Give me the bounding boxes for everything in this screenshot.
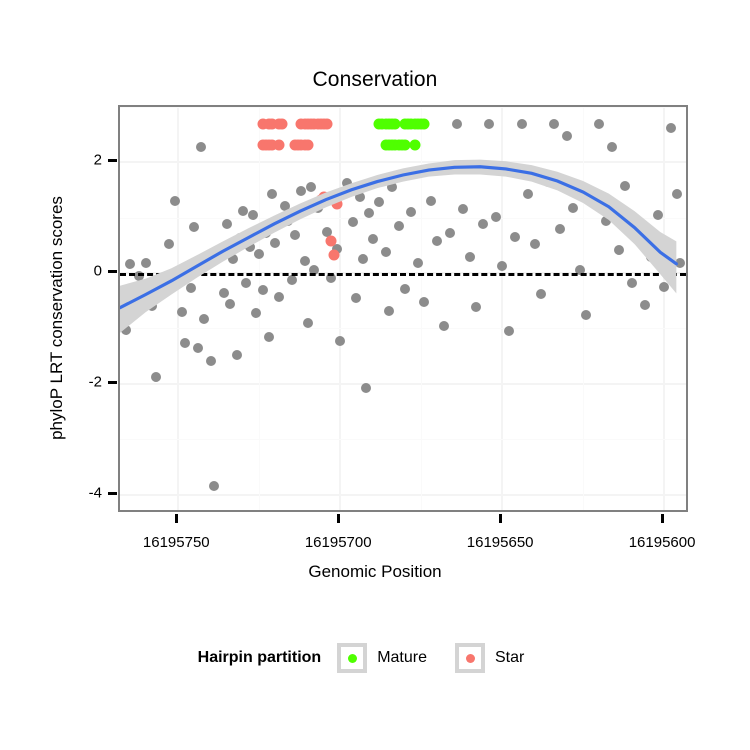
plot-panel (118, 105, 688, 512)
data-point-unassigned (177, 307, 187, 317)
data-point-unassigned (348, 217, 358, 227)
data-point-unassigned (180, 338, 190, 348)
data-point-unassigned (296, 186, 306, 196)
data-point-unassigned (458, 204, 468, 214)
data-point-unassigned (267, 189, 277, 199)
gridline-minor-horizontal (120, 328, 686, 329)
y-tick-mark (108, 159, 117, 162)
data-point-unassigned (484, 119, 494, 129)
data-point-unassigned (426, 196, 436, 206)
legend-label: Star (495, 649, 524, 667)
gridline-minor-horizontal (120, 439, 686, 440)
data-point-unassigned (601, 216, 611, 226)
data-point-unassigned (141, 258, 151, 268)
data-point-unassigned (675, 258, 685, 268)
gridline-minor-vertical (583, 107, 584, 510)
data-point-star (322, 118, 333, 129)
gridline-vertical (339, 107, 341, 510)
data-point-unassigned (536, 289, 546, 299)
data-point-unassigned (530, 239, 540, 249)
gridline-vertical (663, 107, 665, 510)
data-point-unassigned (300, 256, 310, 266)
data-point-unassigned (196, 142, 206, 152)
y-tick-mark (108, 492, 117, 495)
legend-key-star (455, 643, 485, 673)
data-point-unassigned (147, 301, 157, 311)
data-point-unassigned (232, 350, 242, 360)
x-tick-mark (175, 514, 178, 523)
data-point-unassigned (497, 261, 507, 271)
loess-smooth-line (120, 167, 676, 308)
legend-items: MatureStar (337, 643, 552, 673)
data-point-unassigned (193, 343, 203, 353)
data-point-unassigned (280, 201, 290, 211)
data-point-unassigned (445, 228, 455, 238)
conservation-scatter-figure: Conservation 161957501619570016195650161… (0, 0, 750, 750)
data-point-unassigned (215, 244, 225, 254)
legend-item-mature[interactable]: Mature (337, 643, 449, 673)
data-point-unassigned (400, 284, 410, 294)
data-point-unassigned (199, 314, 209, 324)
y-tick-mark (108, 381, 117, 384)
data-point-unassigned (517, 119, 527, 129)
y-tick-label: 2 (72, 152, 102, 169)
data-point-unassigned (235, 233, 245, 243)
data-point-star (319, 191, 330, 202)
legend-dot-icon (466, 654, 475, 663)
data-point-star (302, 139, 313, 150)
legend-title: Hairpin partition (198, 649, 322, 667)
data-point-unassigned (646, 252, 656, 262)
confidence-band (120, 160, 676, 333)
data-point-unassigned (202, 252, 212, 262)
data-point-unassigned (419, 297, 429, 307)
data-point-unassigned (264, 332, 274, 342)
data-point-unassigned (219, 288, 229, 298)
y-tick-label: 0 (72, 263, 102, 280)
data-point-star (325, 236, 336, 247)
data-point-unassigned (170, 196, 180, 206)
data-point-unassigned (228, 254, 238, 264)
data-point-unassigned (238, 206, 248, 216)
gridline-minor-horizontal (120, 107, 686, 108)
gridline-horizontal (120, 161, 686, 163)
data-point-unassigned (254, 249, 264, 259)
data-point-unassigned (594, 119, 604, 129)
data-point-unassigned (189, 222, 199, 232)
data-point-unassigned (432, 236, 442, 246)
x-tick-mark (661, 514, 664, 523)
legend-key-mature (337, 643, 367, 673)
data-point-unassigned (261, 228, 271, 238)
gridline-vertical (501, 107, 503, 510)
x-tick-mark (499, 514, 502, 523)
data-point-unassigned (121, 325, 131, 335)
data-point-unassigned (413, 258, 423, 268)
data-point-unassigned (225, 299, 235, 309)
data-point-unassigned (245, 242, 255, 252)
data-point-unassigned (222, 219, 232, 229)
data-point-unassigned (274, 292, 284, 302)
data-point-unassigned (439, 321, 449, 331)
legend-dot-icon (348, 654, 357, 663)
data-point-unassigned (251, 308, 261, 318)
data-point-unassigned (351, 293, 361, 303)
data-point-unassigned (568, 203, 578, 213)
data-point-unassigned (290, 230, 300, 240)
data-point-star (331, 198, 342, 209)
x-tick-mark (337, 514, 340, 523)
data-point-unassigned (394, 221, 404, 231)
legend: Hairpin partition MatureStar (0, 643, 750, 673)
data-point-unassigned (186, 283, 196, 293)
data-point-unassigned (543, 177, 553, 187)
data-point-unassigned (160, 279, 170, 289)
data-point-mature (419, 118, 430, 129)
data-point-unassigned (653, 210, 663, 220)
data-point-unassigned (607, 142, 617, 152)
data-point-unassigned (258, 285, 268, 295)
x-tick-label: 16195700 (305, 534, 372, 551)
x-tick-label: 16195750 (143, 534, 210, 551)
data-point-unassigned (672, 189, 682, 199)
data-point-unassigned (549, 119, 559, 129)
y-tick-label: -2 (72, 373, 102, 390)
data-point-star (328, 250, 339, 261)
data-point-unassigned (620, 181, 630, 191)
data-point-unassigned (666, 123, 676, 133)
data-point-unassigned (303, 318, 313, 328)
gridline-horizontal (120, 494, 686, 496)
data-point-unassigned (335, 336, 345, 346)
data-point-unassigned (364, 208, 374, 218)
data-point-unassigned (125, 259, 135, 269)
data-point-unassigned (562, 131, 572, 141)
data-point-unassigned (510, 232, 520, 242)
data-point-unassigned (270, 238, 280, 248)
data-point-unassigned (248, 210, 258, 220)
data-point-unassigned (183, 261, 193, 271)
data-point-unassigned (342, 178, 352, 188)
data-point-unassigned (478, 219, 488, 229)
legend-label: Mature (377, 649, 427, 667)
data-point-unassigned (361, 383, 371, 393)
zero-reference-line (120, 273, 686, 276)
data-point-unassigned (209, 481, 219, 491)
gridline-minor-vertical (421, 107, 422, 510)
x-axis-title: Genomic Position (0, 562, 750, 582)
data-point-unassigned (555, 224, 565, 234)
data-point-unassigned (306, 182, 316, 192)
data-point-unassigned (283, 216, 293, 226)
data-point-unassigned (640, 300, 650, 310)
data-point-unassigned (491, 212, 501, 222)
x-tick-label: 16195650 (467, 534, 534, 551)
data-point-mature (409, 139, 420, 150)
data-point-unassigned (387, 182, 397, 192)
data-point-unassigned (374, 197, 384, 207)
data-point-unassigned (241, 278, 251, 288)
data-point-unassigned (465, 252, 475, 262)
data-point-unassigned (633, 229, 643, 239)
y-axis-title: phyloP LRT conservation scores (47, 118, 67, 518)
data-point-unassigned (504, 326, 514, 336)
data-point-unassigned (206, 356, 216, 366)
data-point-unassigned (627, 278, 637, 288)
data-point-unassigned (523, 189, 533, 199)
data-point-star (276, 118, 287, 129)
data-point-unassigned (368, 234, 378, 244)
loess-curve (120, 107, 686, 510)
chart-title: Conservation (0, 68, 750, 92)
data-point-unassigned (384, 306, 394, 316)
x-tick-label: 16195600 (629, 534, 696, 551)
data-point-unassigned (287, 275, 297, 285)
data-point-unassigned (381, 247, 391, 257)
data-point-unassigned (151, 372, 161, 382)
data-point-unassigned (406, 207, 416, 217)
gridline-horizontal (120, 383, 686, 385)
legend-item-star[interactable]: Star (455, 643, 546, 673)
data-point-unassigned (452, 119, 462, 129)
data-point-unassigned (659, 282, 669, 292)
y-tick-mark (108, 270, 117, 273)
y-tick-label: -4 (72, 484, 102, 501)
data-point-unassigned (164, 239, 174, 249)
data-point-unassigned (471, 302, 481, 312)
data-point-star (273, 139, 284, 150)
data-point-unassigned (355, 192, 365, 202)
data-point-unassigned (581, 310, 591, 320)
data-point-unassigned (588, 193, 598, 203)
data-point-unassigned (614, 245, 624, 255)
data-point-unassigned (358, 254, 368, 264)
